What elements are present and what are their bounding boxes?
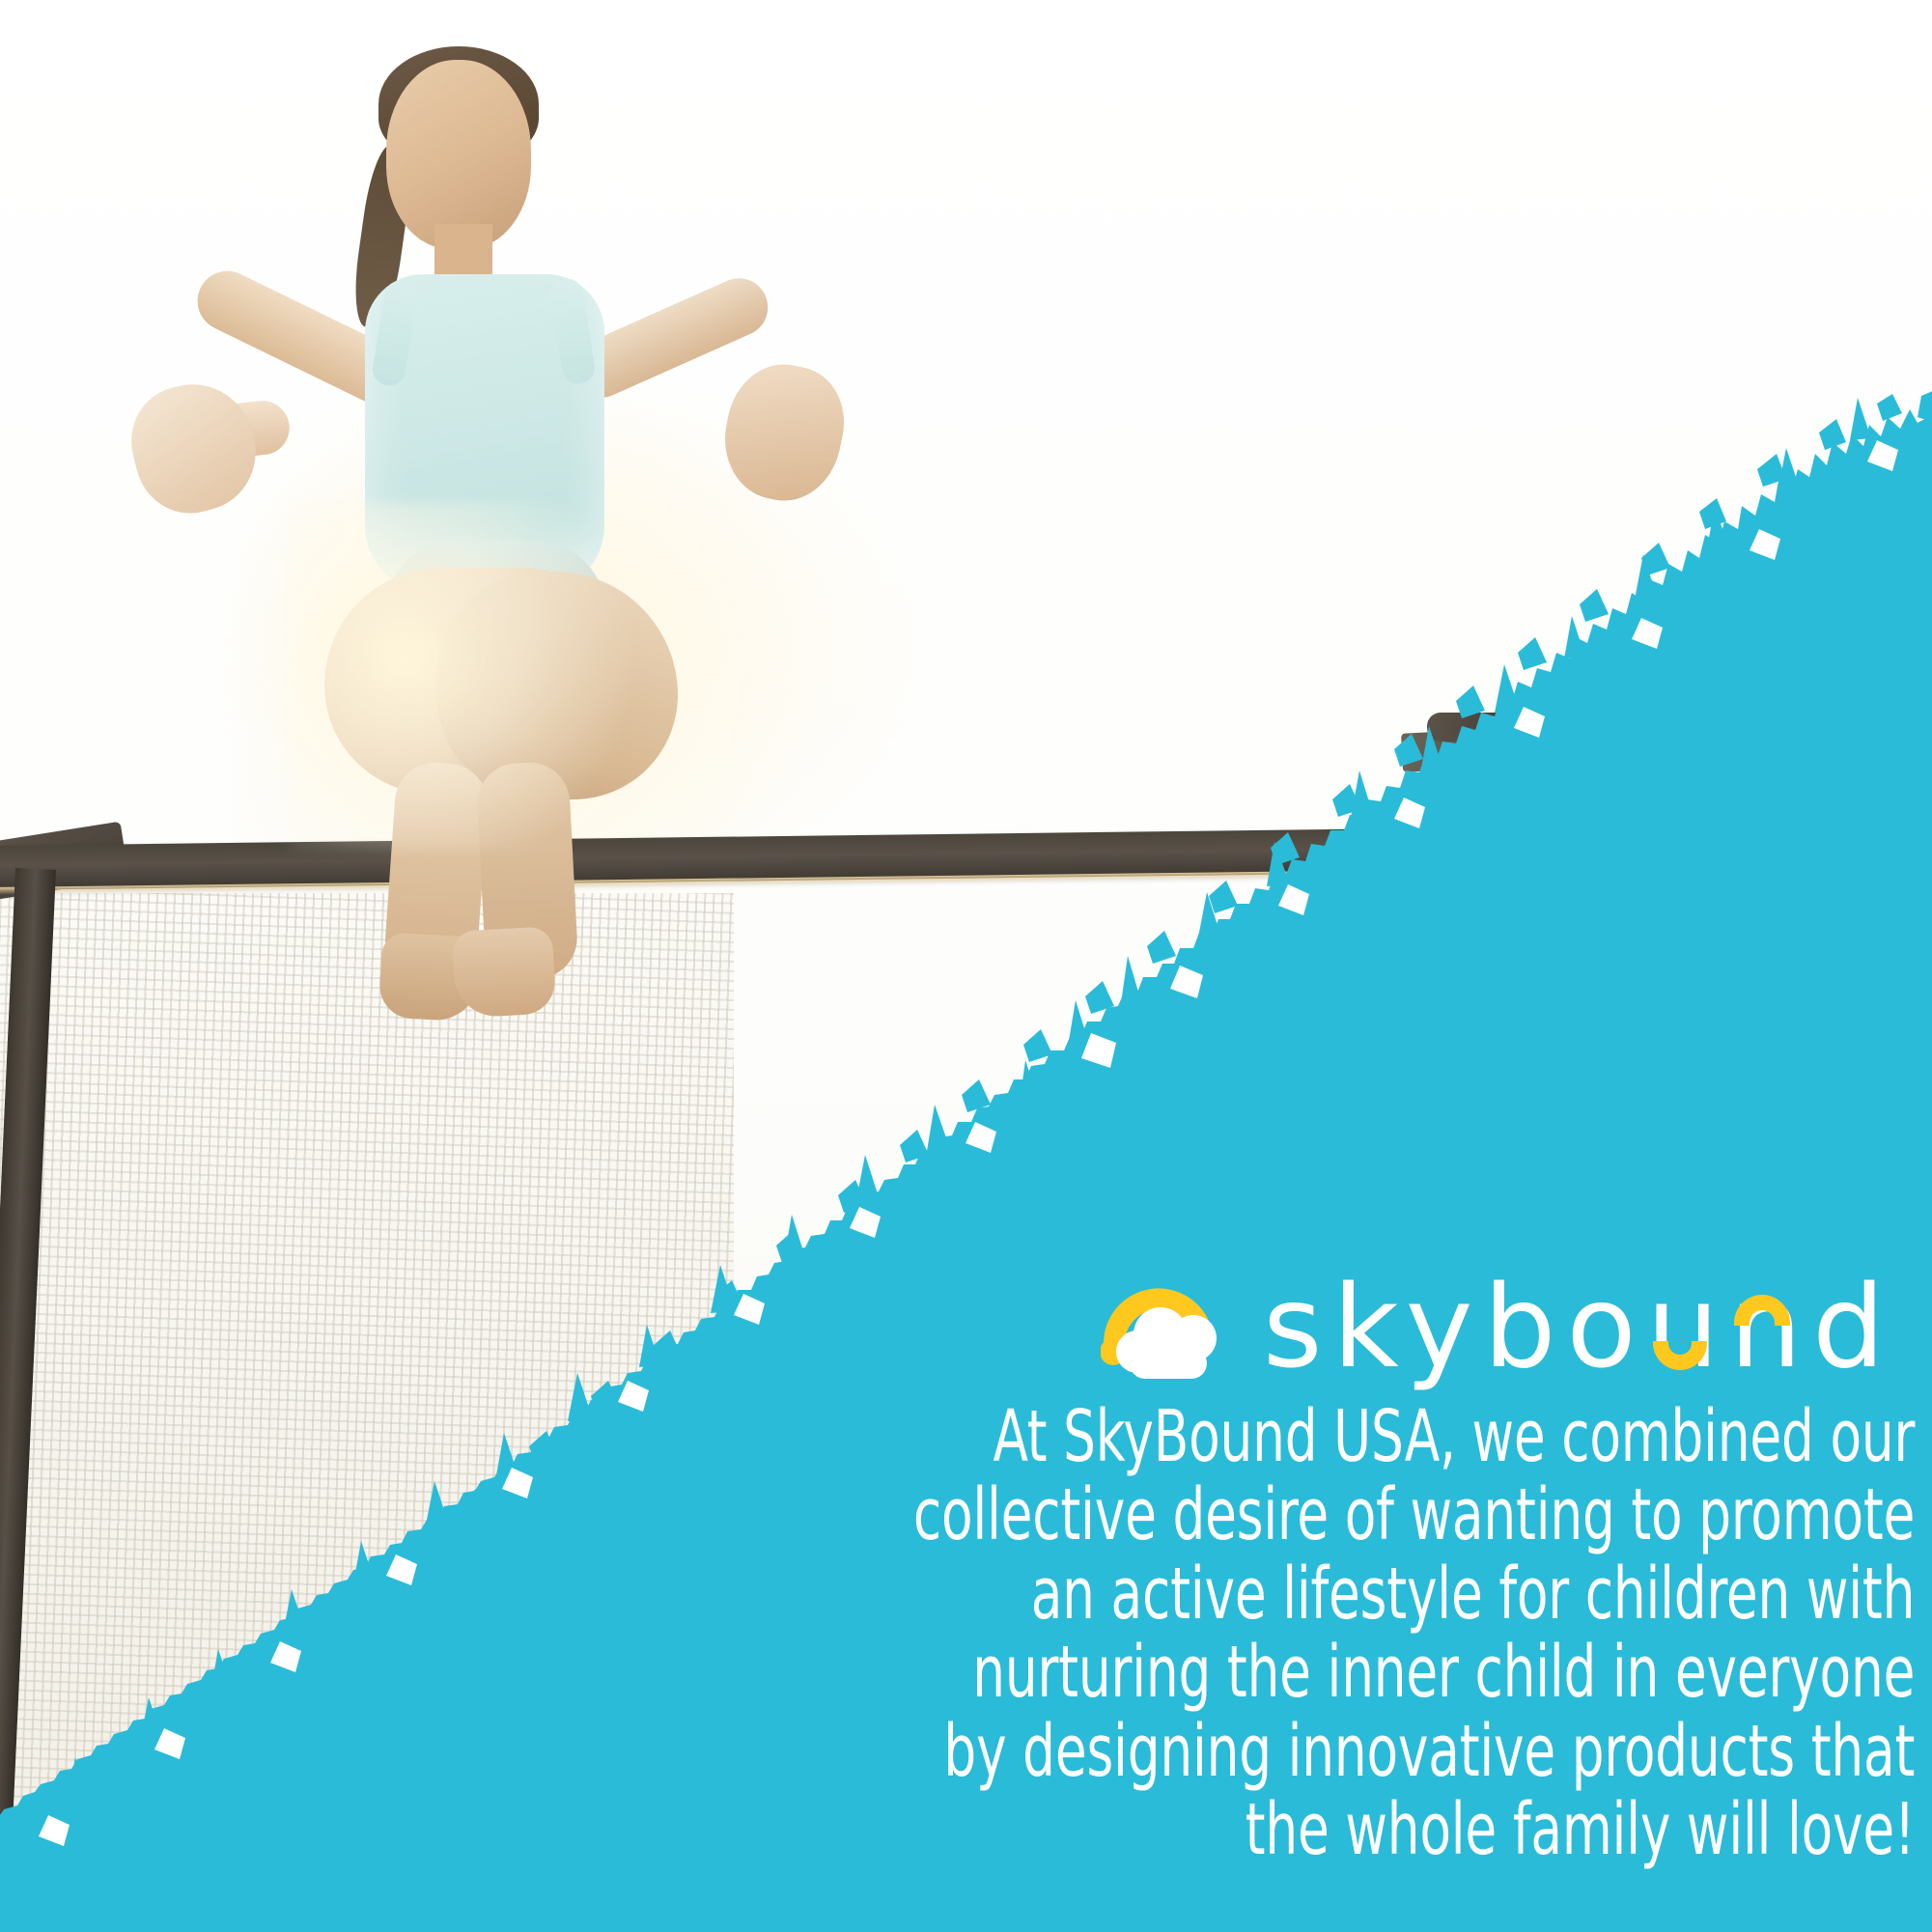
chimney-far xyxy=(1823,606,1906,780)
wordmark-u: u xyxy=(1647,1270,1730,1384)
chimney-near xyxy=(1435,763,1510,975)
advertisement-canvas: skybound At SkyBound USA, we combined ou… xyxy=(0,0,1932,1932)
wordmark-n: n xyxy=(1729,1270,1812,1384)
mission-statement-text: At SkyBound USA, we combined our collect… xyxy=(895,1398,1927,1869)
wordmark-skybo: skybo xyxy=(1263,1270,1647,1384)
skybound-wordmark: skybound xyxy=(1263,1270,1895,1384)
sun-cloud-icon xyxy=(1101,1263,1238,1384)
girl-head xyxy=(386,60,531,249)
girl-right-foot xyxy=(452,926,557,1018)
girl-right-hand xyxy=(714,354,854,511)
wordmark-d: d xyxy=(1812,1270,1895,1384)
chimney-near-cowl xyxy=(1427,713,1520,742)
wordmark-u-letter: u xyxy=(1647,1260,1730,1393)
wordmark-n-letter: n xyxy=(1729,1260,1812,1393)
girl-jumping xyxy=(0,0,966,1062)
sun-flare-secondary xyxy=(290,502,676,850)
girl-left-hand xyxy=(120,372,268,525)
skybound-logo[interactable]: skybound xyxy=(1101,1255,1931,1390)
